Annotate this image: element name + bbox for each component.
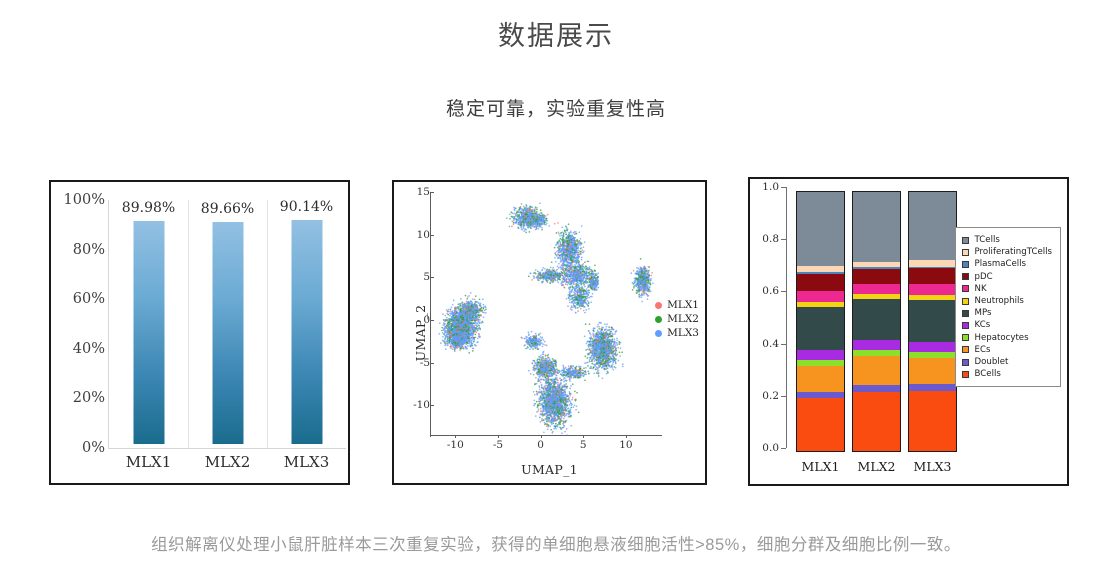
stacked-bar-x-tick: MLX3 (908, 459, 957, 474)
stacked-bar-segment[interactable] (853, 340, 900, 350)
bar-chart-y-tick: 80% (55, 242, 105, 258)
stacked-bar-segment[interactable] (909, 268, 956, 284)
stacked-bar-legend-item[interactable]: KCs (962, 319, 1052, 331)
stacked-bar-segment[interactable] (909, 391, 956, 451)
stacked-bar-legend-label: Doublet (975, 356, 1009, 368)
umap-legend-dot-icon (655, 330, 662, 337)
bar-chart-y-tick: 40% (55, 341, 105, 357)
umap-y-tick: -10 (404, 399, 430, 411)
umap-y-tick: 15 (404, 186, 430, 198)
stacked-bar-segment[interactable] (797, 291, 844, 303)
stacked-bar-legend-swatch-icon (962, 298, 969, 305)
umap-legend-dot-icon (655, 302, 662, 309)
stacked-bar-legend-swatch-icon (962, 273, 969, 280)
umap-point-cloud (434, 192, 660, 435)
stacked-bar-legend-label: Neutrophils (975, 295, 1024, 307)
umap-legend-item[interactable]: MLX2 (655, 312, 699, 326)
stacked-bar-segment[interactable] (797, 192, 844, 266)
panel-cell-proportion-stacked-bar: 1.00.80.60.40.20.0 MLX1MLX2MLX3 TCellsPr… (748, 177, 1069, 486)
bar-chart-y-tick: 60% (55, 291, 105, 307)
stacked-bar-legend-item[interactable]: BCells (962, 368, 1052, 380)
stacked-bar-y-tickmark (781, 396, 786, 397)
bar-chart-bar[interactable] (291, 220, 322, 444)
umap-x-tick: 0 (527, 439, 555, 451)
stacked-bar-legend-item[interactable]: ECs (962, 344, 1052, 356)
stacked-bar-y-tick: 1.0 (753, 181, 779, 193)
stacked-bar-segment[interactable] (909, 384, 956, 392)
umap-legend-label: MLX1 (667, 298, 699, 312)
stacked-bar-y-axis-line (786, 187, 787, 448)
stacked-bar-segment[interactable] (797, 350, 844, 360)
bar-chart-x-tick: MLX3 (267, 453, 346, 471)
stacked-bar-legend-swatch-icon (962, 346, 969, 353)
stacked-bar-legend-item[interactable]: pDC (962, 271, 1052, 283)
bar-chart-value-label: 89.98% (122, 200, 175, 216)
stacked-bar-legend-item[interactable]: PlasmaCells (962, 258, 1052, 270)
stacked-bar-legend-label: KCs (975, 319, 991, 331)
stacked-bar-legend: TCellsProliferatingTCellsPlasmaCellspDCN… (955, 227, 1061, 387)
umap-legend-item[interactable]: MLX3 (655, 326, 699, 340)
umap-x-tick: 10 (612, 439, 640, 451)
stacked-bar-legend-label: PlasmaCells (975, 258, 1027, 270)
stacked-bar-segment[interactable] (797, 307, 844, 350)
umap-y-tick: 5 (404, 271, 430, 283)
umap-y-tick: 10 (404, 229, 430, 241)
umap-x-tick: 5 (569, 439, 597, 451)
stacked-bar-y-tickmark (781, 448, 786, 449)
stacked-bar-segment[interactable] (853, 299, 900, 340)
umap-x-axis-line (430, 435, 662, 436)
stacked-bar-column[interactable] (908, 191, 957, 452)
umap-plot-area: UMAP_2 UMAP_1 -10-5051015 -10-50510 MLX1… (394, 182, 705, 483)
bar-chart-value-label: 89.66% (201, 201, 254, 217)
stacked-bar-segment[interactable] (797, 398, 844, 451)
stacked-bar-legend-swatch-icon (962, 249, 969, 256)
stacked-bar-legend-swatch-icon (962, 261, 969, 268)
stacked-bar-legend-item[interactable]: TCells (962, 234, 1052, 246)
stacked-bar-legend-label: NK (975, 283, 987, 295)
stacked-bar-legend-item[interactable]: Neutrophils (962, 295, 1052, 307)
stacked-bar-legend-label: Hepatocytes (975, 332, 1029, 344)
bar-chart-gridline (188, 200, 189, 448)
umap-legend-label: MLX2 (667, 312, 699, 326)
stacked-bar-column[interactable] (796, 191, 845, 452)
stacked-bar-y-tick: 0.2 (753, 390, 779, 402)
page-title: 数据展示 (0, 14, 1112, 53)
stacked-bar-plot-area: 1.00.80.60.40.20.0 MLX1MLX2MLX3 TCellsPr… (750, 179, 1067, 484)
bar-chart-category-slot: 89.66% (188, 196, 267, 444)
stacked-bar-legend-item[interactable]: Hepatocytes (962, 332, 1052, 344)
stacked-bar-segment[interactable] (853, 192, 900, 262)
bar-chart-bar[interactable] (212, 222, 243, 444)
stacked-bar-legend-swatch-icon (962, 237, 969, 244)
umap-y-tick: 0 (404, 314, 430, 326)
umap-y-axis-label: UMAP_2 (413, 304, 428, 361)
bar-chart-category-slot: 90.14% (267, 196, 346, 444)
umap-legend: MLX1MLX2MLX3 (655, 298, 699, 340)
stacked-bar-segment[interactable] (909, 300, 956, 342)
stacked-bar-legend-swatch-icon (962, 334, 969, 341)
stacked-bar-legend-item[interactable]: MPs (962, 307, 1052, 319)
bar-chart-y-tick: 100% (55, 192, 105, 208)
bar-chart-plot-area: 100%80%60%40%20%0% 89.98%MLX189.66%MLX29… (51, 182, 348, 483)
stacked-bar-segment[interactable] (909, 284, 956, 295)
umap-legend-item[interactable]: MLX1 (655, 298, 699, 312)
stacked-bar-legend-swatch-icon (962, 285, 969, 292)
bar-chart-x-tick: MLX2 (188, 453, 267, 471)
bar-chart-y-tick: 0% (55, 440, 105, 456)
stacked-bar-legend-item[interactable]: ProliferatingTCells (962, 246, 1052, 258)
bar-chart-gridline (267, 200, 268, 448)
slide-page: 数据展示 稳定可靠，实验重复性高 100%80%60%40%20%0% 89.9… (0, 0, 1112, 584)
umap-x-tick: -5 (484, 439, 512, 451)
page-subtitle: 稳定可靠，实验重复性高 (0, 94, 1112, 121)
stacked-bar-legend-item[interactable]: NK (962, 283, 1052, 295)
umap-legend-label: MLX3 (667, 326, 699, 340)
stacked-bar-y-tickmark (781, 239, 786, 240)
stacked-bar-y-tickmark (781, 291, 786, 292)
stacked-bar-segment[interactable] (853, 356, 900, 386)
stacked-bar-x-tick: MLX1 (796, 459, 845, 474)
figure-caption: 组织解离仪处理小鼠肝脏样本三次重复实验，获得的单细胞悬液细胞活性>85%，细胞分… (0, 531, 1112, 555)
stacked-bar-legend-label: pDC (975, 271, 993, 283)
stacked-bar-legend-swatch-icon (962, 310, 969, 317)
stacked-bar-legend-item[interactable]: Doublet (962, 356, 1052, 368)
stacked-bar-x-tick: MLX2 (852, 459, 901, 474)
stacked-bar-legend-swatch-icon (962, 371, 969, 378)
bar-chart-x-tick: MLX1 (109, 453, 188, 471)
stacked-bar-segment[interactable] (853, 392, 900, 451)
stacked-bar-segment[interactable] (853, 269, 900, 284)
bar-chart-category-slot: 89.98% (109, 196, 188, 444)
stacked-bar-legend-label: ECs (975, 344, 991, 356)
stacked-bar-y-tick: 0.4 (753, 338, 779, 350)
panel-umap-scatter-plot: UMAP_2 UMAP_1 -10-5051015 -10-50510 MLX1… (392, 180, 707, 485)
stacked-bar-legend-label: BCells (975, 368, 1001, 380)
umap-y-axis-line (430, 192, 431, 437)
stacked-bar-segment[interactable] (797, 274, 844, 290)
umap-legend-dot-icon (655, 316, 662, 323)
stacked-bar-segment[interactable] (909, 342, 956, 353)
panel-cell-viability-bar-chart: 100%80%60%40%20%0% 89.98%MLX189.66%MLX29… (49, 180, 350, 485)
umap-y-tick: -5 (404, 357, 430, 369)
bar-chart-y-tick: 20% (55, 390, 105, 406)
bar-chart-value-label: 90.14% (280, 199, 333, 215)
stacked-bar-segment[interactable] (909, 358, 956, 384)
bar-chart-x-axis-line (108, 448, 346, 449)
stacked-bar-legend-swatch-icon (962, 322, 969, 329)
stacked-bar-legend-label: ProliferatingTCells (975, 246, 1052, 258)
stacked-bar-column[interactable] (852, 191, 901, 452)
bar-chart-bar[interactable] (133, 221, 164, 444)
stacked-bar-legend-label: MPs (975, 307, 992, 319)
stacked-bar-segment[interactable] (797, 366, 844, 392)
stacked-bar-y-tickmark (781, 344, 786, 345)
stacked-bar-segment[interactable] (909, 260, 956, 267)
umap-x-tick: -10 (441, 439, 469, 451)
stacked-bar-y-tick: 0.0 (753, 442, 779, 454)
bar-chart-y-axis: 100%80%60%40%20%0% (55, 200, 105, 448)
stacked-bar-segment[interactable] (909, 192, 956, 260)
stacked-bar-legend-label: TCells (975, 234, 1000, 246)
stacked-bar-legend-swatch-icon (962, 359, 969, 366)
umap-x-axis-label: UMAP_1 (394, 462, 705, 477)
stacked-bar-segment[interactable] (853, 284, 900, 294)
stacked-bar-y-tick: 0.6 (753, 285, 779, 297)
stacked-bar-y-tickmark (781, 187, 786, 188)
stacked-bar-y-tick: 0.8 (753, 233, 779, 245)
